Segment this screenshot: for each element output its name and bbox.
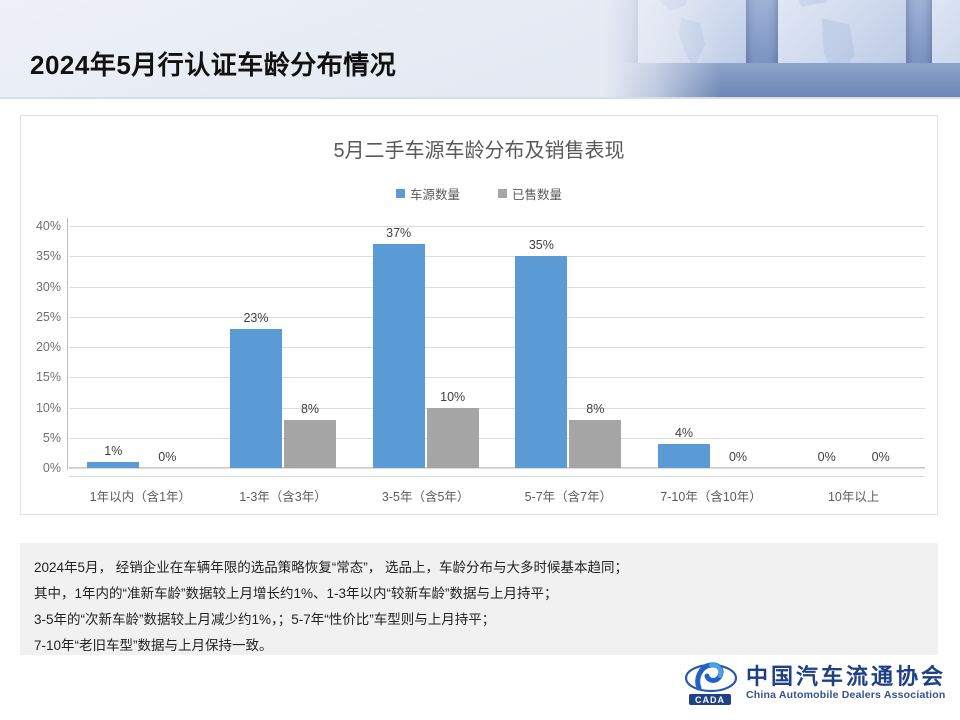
bar-che-yuan-shu-liang[interactable] [373,244,425,468]
bar-group: 37%10% [354,226,497,468]
note-line: 7-10年“老旧车型”数据与上月保持一致。 [34,633,924,659]
y-axis-tick-label: 15% [25,370,69,384]
legend-swatch-icon [396,189,405,198]
x-axis-tick-label: 1-3年（含3年） [212,486,355,505]
header-fade [600,0,720,97]
legend-item-che-yuan-shu-liang[interactable]: 车源数量 [396,184,460,203]
bar-yi-shou-shu-liang[interactable] [569,420,621,468]
bar-yi-shou-shu-liang[interactable] [427,408,479,469]
bar-slot: 4% [658,226,710,468]
x-axis-labels: 1年以内（含1年）1-3年（含3年）3-5年（含5年）5-7年（含7年）7-10… [69,476,925,505]
bar-value-label: 8% [301,402,319,416]
x-axis-tick-label: 3-5年（含5年） [354,486,497,505]
bar-che-yuan-shu-liang[interactable] [87,462,139,468]
gridline [69,468,925,469]
logo-text: 中国汽车流通协会 China Automobile Dealers Associ… [746,665,946,701]
bar-value-label: 8% [586,402,604,416]
bar-slot: 0% [855,226,907,468]
logo-title-en: China Automobile Dealers Association [746,690,946,701]
y-axis-tick-label: 20% [25,340,69,354]
legend-label: 已售数量 [512,184,562,203]
bar-slot: 8% [569,226,621,468]
x-axis-tick-label: 7-10年（含10年） [640,486,783,505]
note-line: 3-5年的“次新车龄”数据较上月减少约1%，；5-7年“性价比”车型则与上月持平… [34,607,924,633]
slide-header: 2024年5月行认证车龄分布情况 [0,0,960,97]
chart-title: 5月二手车源车龄分布及销售表现 [21,134,937,163]
x-axis-tick-label: 1年以内（含1年） [69,486,212,505]
y-axis-tick-label: 25% [25,310,69,324]
bar-group: 1%0% [69,226,212,468]
bar-value-label: 35% [529,238,554,252]
y-axis-tick-label: 40% [25,219,69,233]
bar-group: 23%8% [212,226,355,468]
bar-slot: 23% [230,226,282,468]
legend-label: 车源数量 [410,184,460,203]
header-decoration-image [600,0,960,97]
bar-yi-shou-shu-liang[interactable] [284,420,336,468]
bar-value-label: 0% [729,450,747,464]
cada-logo: CADA 中国汽车流通协会 China Automobile Dealers A… [685,658,946,708]
bar-group: 4%0% [640,226,783,468]
bar-slot: 10% [427,226,479,468]
page-title: 2024年5月行认证车龄分布情况 [30,45,396,82]
chart-plot-area: 40%35%30%25%20%15%10%5%0% 1%0%23%8%37%10… [69,226,925,468]
bar-che-yuan-shu-liang[interactable] [658,444,710,468]
bar-slot: 35% [515,226,567,468]
bar-value-label: 0% [158,450,176,464]
bar-che-yuan-shu-liang[interactable] [230,329,282,468]
bar-slot: 8% [284,226,336,468]
bar-slot: 37% [373,226,425,468]
bar-value-label: 0% [818,450,836,464]
bar-slot: 1% [87,226,139,468]
y-axis-tick-label: 35% [25,249,69,263]
y-axis-tick-label: 30% [25,280,69,294]
bar-che-yuan-shu-liang[interactable] [515,256,567,468]
cada-emblem-icon: CADA [685,658,737,708]
y-axis-tick-label: 5% [25,431,69,445]
bar-pair: 35%8% [514,226,622,468]
bar-value-label: 0% [872,450,890,464]
note-line: 其中，1年内的“准新车龄”数据较上月增长约1%、1-3年以内“较新车龄”数据与上… [34,581,924,607]
bar-value-label: 4% [675,426,693,440]
bar-group: 35%8% [497,226,640,468]
svg-text:CADA: CADA [695,695,725,705]
bar-group: 0%0% [782,226,925,468]
bar-pair: 4%0% [657,226,765,468]
notes-block: 2024年5月， 经销企业在车辆年限的选品策略恢复“常态”， 选品上，车龄分布与… [20,543,938,655]
bar-slot: 0% [712,226,764,468]
y-axis-tick-label: 0% [25,461,69,475]
x-axis-tick-label: 10年以上 [782,486,925,505]
y-axis-tick-label: 10% [25,401,69,415]
chart-card: 5月二手车源车龄分布及销售表现 车源数量 已售数量 40%35%30%25%20… [20,115,938,515]
bar-pair: 1%0% [86,226,194,468]
bar-value-label: 23% [243,311,268,325]
bar-pair: 23%8% [229,226,337,468]
legend-swatch-icon [498,189,507,198]
bar-value-label: 37% [386,226,411,240]
header-divider [0,97,960,99]
chart-legend: 车源数量 已售数量 [21,184,937,203]
bar-groups: 1%0%23%8%37%10%35%8%4%0%0%0% [69,226,925,468]
bar-pair: 0%0% [800,226,908,468]
note-line: 2024年5月， 经销企业在车辆年限的选品策略恢复“常态”， 选品上，车龄分布与… [34,555,924,581]
bar-slot: 0% [801,226,853,468]
bar-value-label: 10% [440,390,465,404]
logo-title-cn: 中国汽车流通协会 [746,665,946,688]
legend-item-yi-shou-shu-liang[interactable]: 已售数量 [498,184,562,203]
x-axis-tick-label: 5-7年（含7年） [497,486,640,505]
bar-slot: 0% [141,226,193,468]
bar-pair: 37%10% [372,226,480,468]
bar-value-label: 1% [104,444,122,458]
